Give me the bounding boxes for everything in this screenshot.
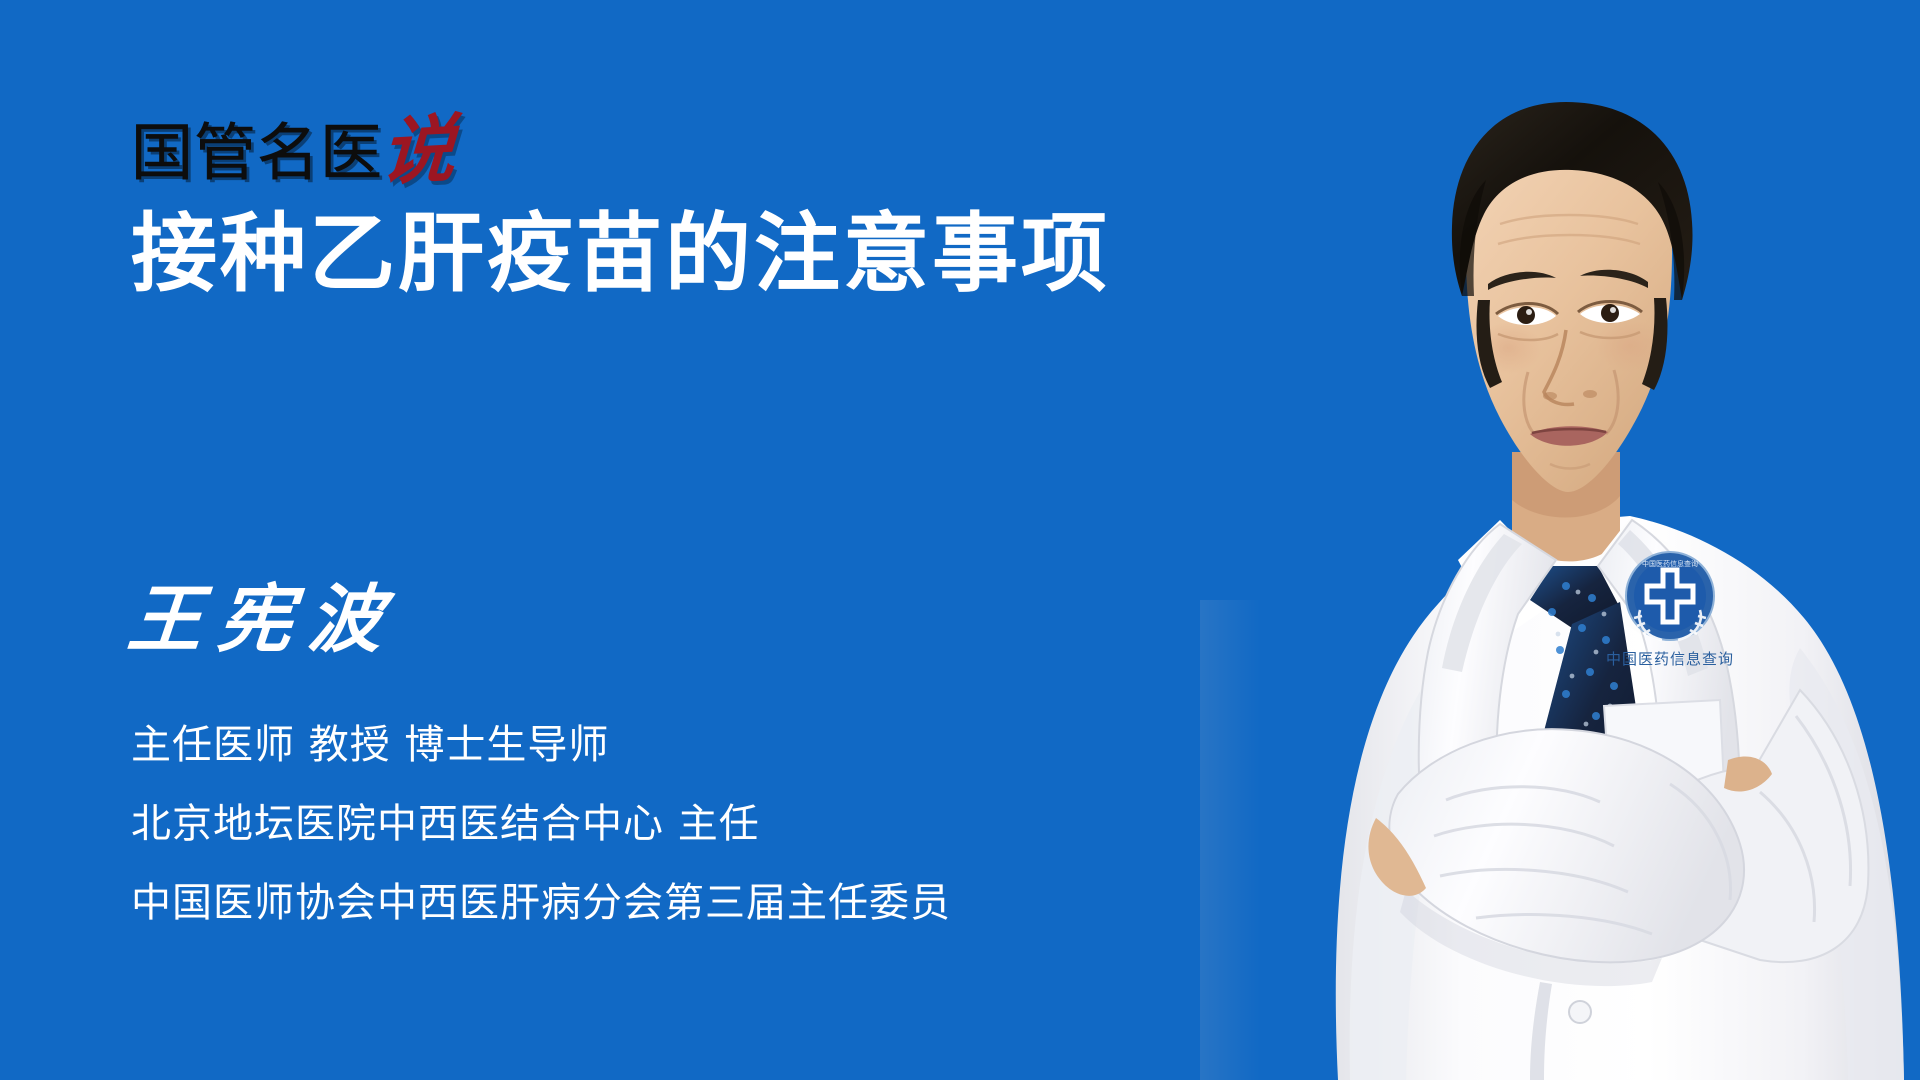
laurel-icon [1634,610,1706,640]
coat-button [1569,1001,1591,1023]
page-title: 接种乙肝疫苗的注意事项 [131,205,1110,303]
crossed-arms [1368,690,1868,986]
emblem-circle [1626,552,1714,640]
medical-cross-icon [1647,570,1693,622]
coat-lapels [1419,520,1740,874]
eye-right [1580,305,1640,323]
poster-canvas: 国管名医 说 接种乙肝疫苗的注意事项 王宪波 主任医师 教授 博士生导师 北京地… [0,0,1920,1080]
mouth [1530,426,1608,446]
brand-logo-accent-text: 说 [379,118,457,184]
eyebrow-right [1580,270,1648,288]
eyebrow-left [1488,272,1556,290]
doctor-credentials: 主任医师 教授 博士生导师 北京地坛医院中西医结合中心 主任 中国医师协会中西医… [131,722,951,926]
eye-left [1498,307,1556,325]
doctor-portrait-photo: 中国医药信息查询 中国医药信息查询 [1200,0,1920,1080]
hospital-badge: 中国医药信息查询 中国医药信息查询 [1606,544,1734,668]
brand-logo: 国管名医 说 [131,104,453,184]
neck [1512,452,1620,561]
hair [1452,102,1693,390]
credential-line: 主任医师 教授 博士生导师 [131,722,951,768]
coat-pocket [1604,700,1724,792]
credential-line: 中国医师协会中西医肝病分会第三届主任委员 [131,880,951,926]
face-features [1488,215,1648,469]
lab-coat [1336,516,1904,1080]
nose [1544,330,1574,405]
doctor-head [1466,126,1672,492]
ear-left [1471,288,1506,357]
coat-placket [1530,982,1552,1080]
credential-line: 北京地坛医院中西医结合中心 主任 [131,801,951,847]
necktie [1530,566,1644,814]
emblem-ring-text: 中国医药信息查询 [1642,559,1698,568]
doctor-name: 王宪波 [124,578,401,662]
shirt-collar [1458,518,1686,640]
badge-caption: 中国医药信息查询 [1606,650,1734,668]
ear-right [1632,286,1667,357]
brand-logo-main-text: 国管名医 [131,122,383,184]
